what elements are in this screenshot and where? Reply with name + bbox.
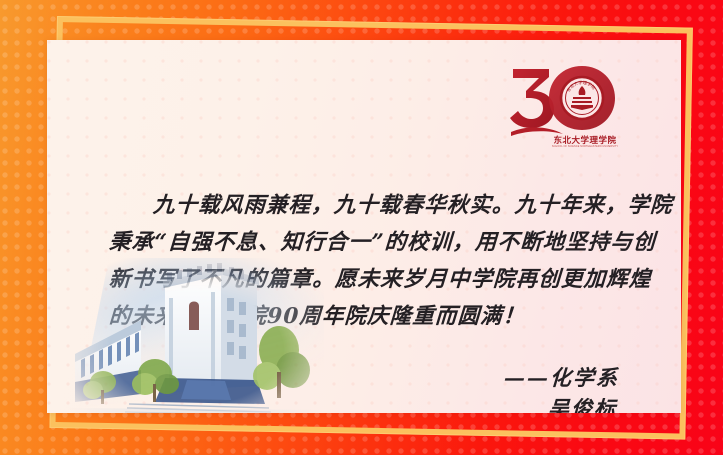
signature-department: ——化学系 [503,362,620,393]
letter-card: 东北大学理学院 东北大学理学院 SCHOOL OF SCIENCE NORTHE… [47,40,681,413]
letter-line-4: 的未来！祝学院90周年院庆隆重而圆满！ [108,301,650,333]
logo-wordmark: 东北大学理学院 SCHOOL OF SCIENCE NORTHEASTERN U… [549,136,621,149]
letter-line-1: 九十载风雨兼程，九十载春华秋实。九十年来，学院 [108,190,650,222]
signature-name: 吴俊标 [503,393,620,413]
logo-institution-en: SCHOOL OF SCIENCE NORTHEASTERN UNIVERSIT… [552,145,618,149]
logo-institution-cn: 东北大学理学院 [553,136,616,145]
anniversary-poster: 东北大学理学院 东北大学理学院 SCHOOL OF SCIENCE NORTHE… [0,0,723,455]
letter-line-3: 新书写了不凡的篇章。愿未来岁月中学院再创更加辉煌 [108,264,650,296]
letter-body: 九十载风雨兼程，九十载春华秋实。九十年来，学院 秉承“自强不息、知行合一”的校训… [109,190,649,338]
letter-line-2: 秉承“自强不息、知行合一”的校训，用不断地坚持与创 [108,227,650,259]
signature-block: ——化学系 吴俊标 [504,362,619,413]
anniversary-logo: 东北大学理学院 东北大学理学院 SCHOOL OF SCIENCE NORTHE… [505,64,627,148]
